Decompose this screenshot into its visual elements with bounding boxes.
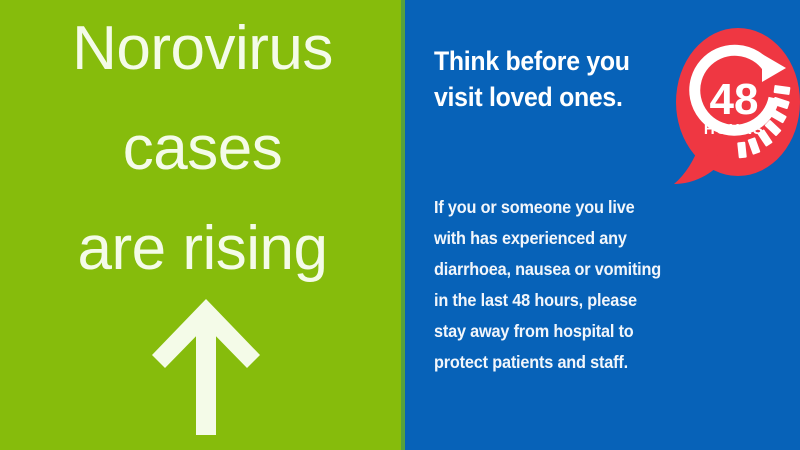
- badge-unit-label: HOURS: [704, 121, 764, 138]
- green-headline-line-2: cases: [0, 104, 405, 194]
- blue-body-line-1: If you or someone you live: [434, 192, 690, 223]
- badge-number: 48: [710, 75, 759, 124]
- blue-headline: Think before you visit loved ones.: [434, 43, 659, 115]
- blue-headline-line-2: visit loved ones.: [434, 79, 659, 115]
- norovirus-awareness-poster: Norovirus cases are rising Think before …: [0, 0, 800, 450]
- blue-body-line-2: with has experienced any: [434, 223, 690, 254]
- blue-body-text: If you or someone you live with has expe…: [434, 192, 690, 378]
- green-headline: Norovirus cases are rising: [0, 4, 405, 294]
- blue-body-line-3: diarrhoea, nausea or vomiting: [434, 254, 690, 285]
- up-arrow-icon: [148, 295, 264, 435]
- blue-body-line-4: in the last 48 hours, please: [434, 285, 690, 316]
- blue-body-line-6: protect patients and staff.: [434, 347, 690, 378]
- green-headline-line-1: Norovirus: [0, 4, 405, 94]
- blue-panel: Think before you visit loved ones. If yo…: [405, 0, 800, 450]
- blue-headline-line-1: Think before you: [434, 43, 659, 79]
- blue-body-line-5: stay away from hospital to: [434, 316, 690, 347]
- 48-hours-badge-icon: 48 HOURS: [670, 24, 800, 194]
- green-panel: Norovirus cases are rising: [0, 0, 405, 450]
- green-headline-line-3: are rising: [0, 204, 405, 294]
